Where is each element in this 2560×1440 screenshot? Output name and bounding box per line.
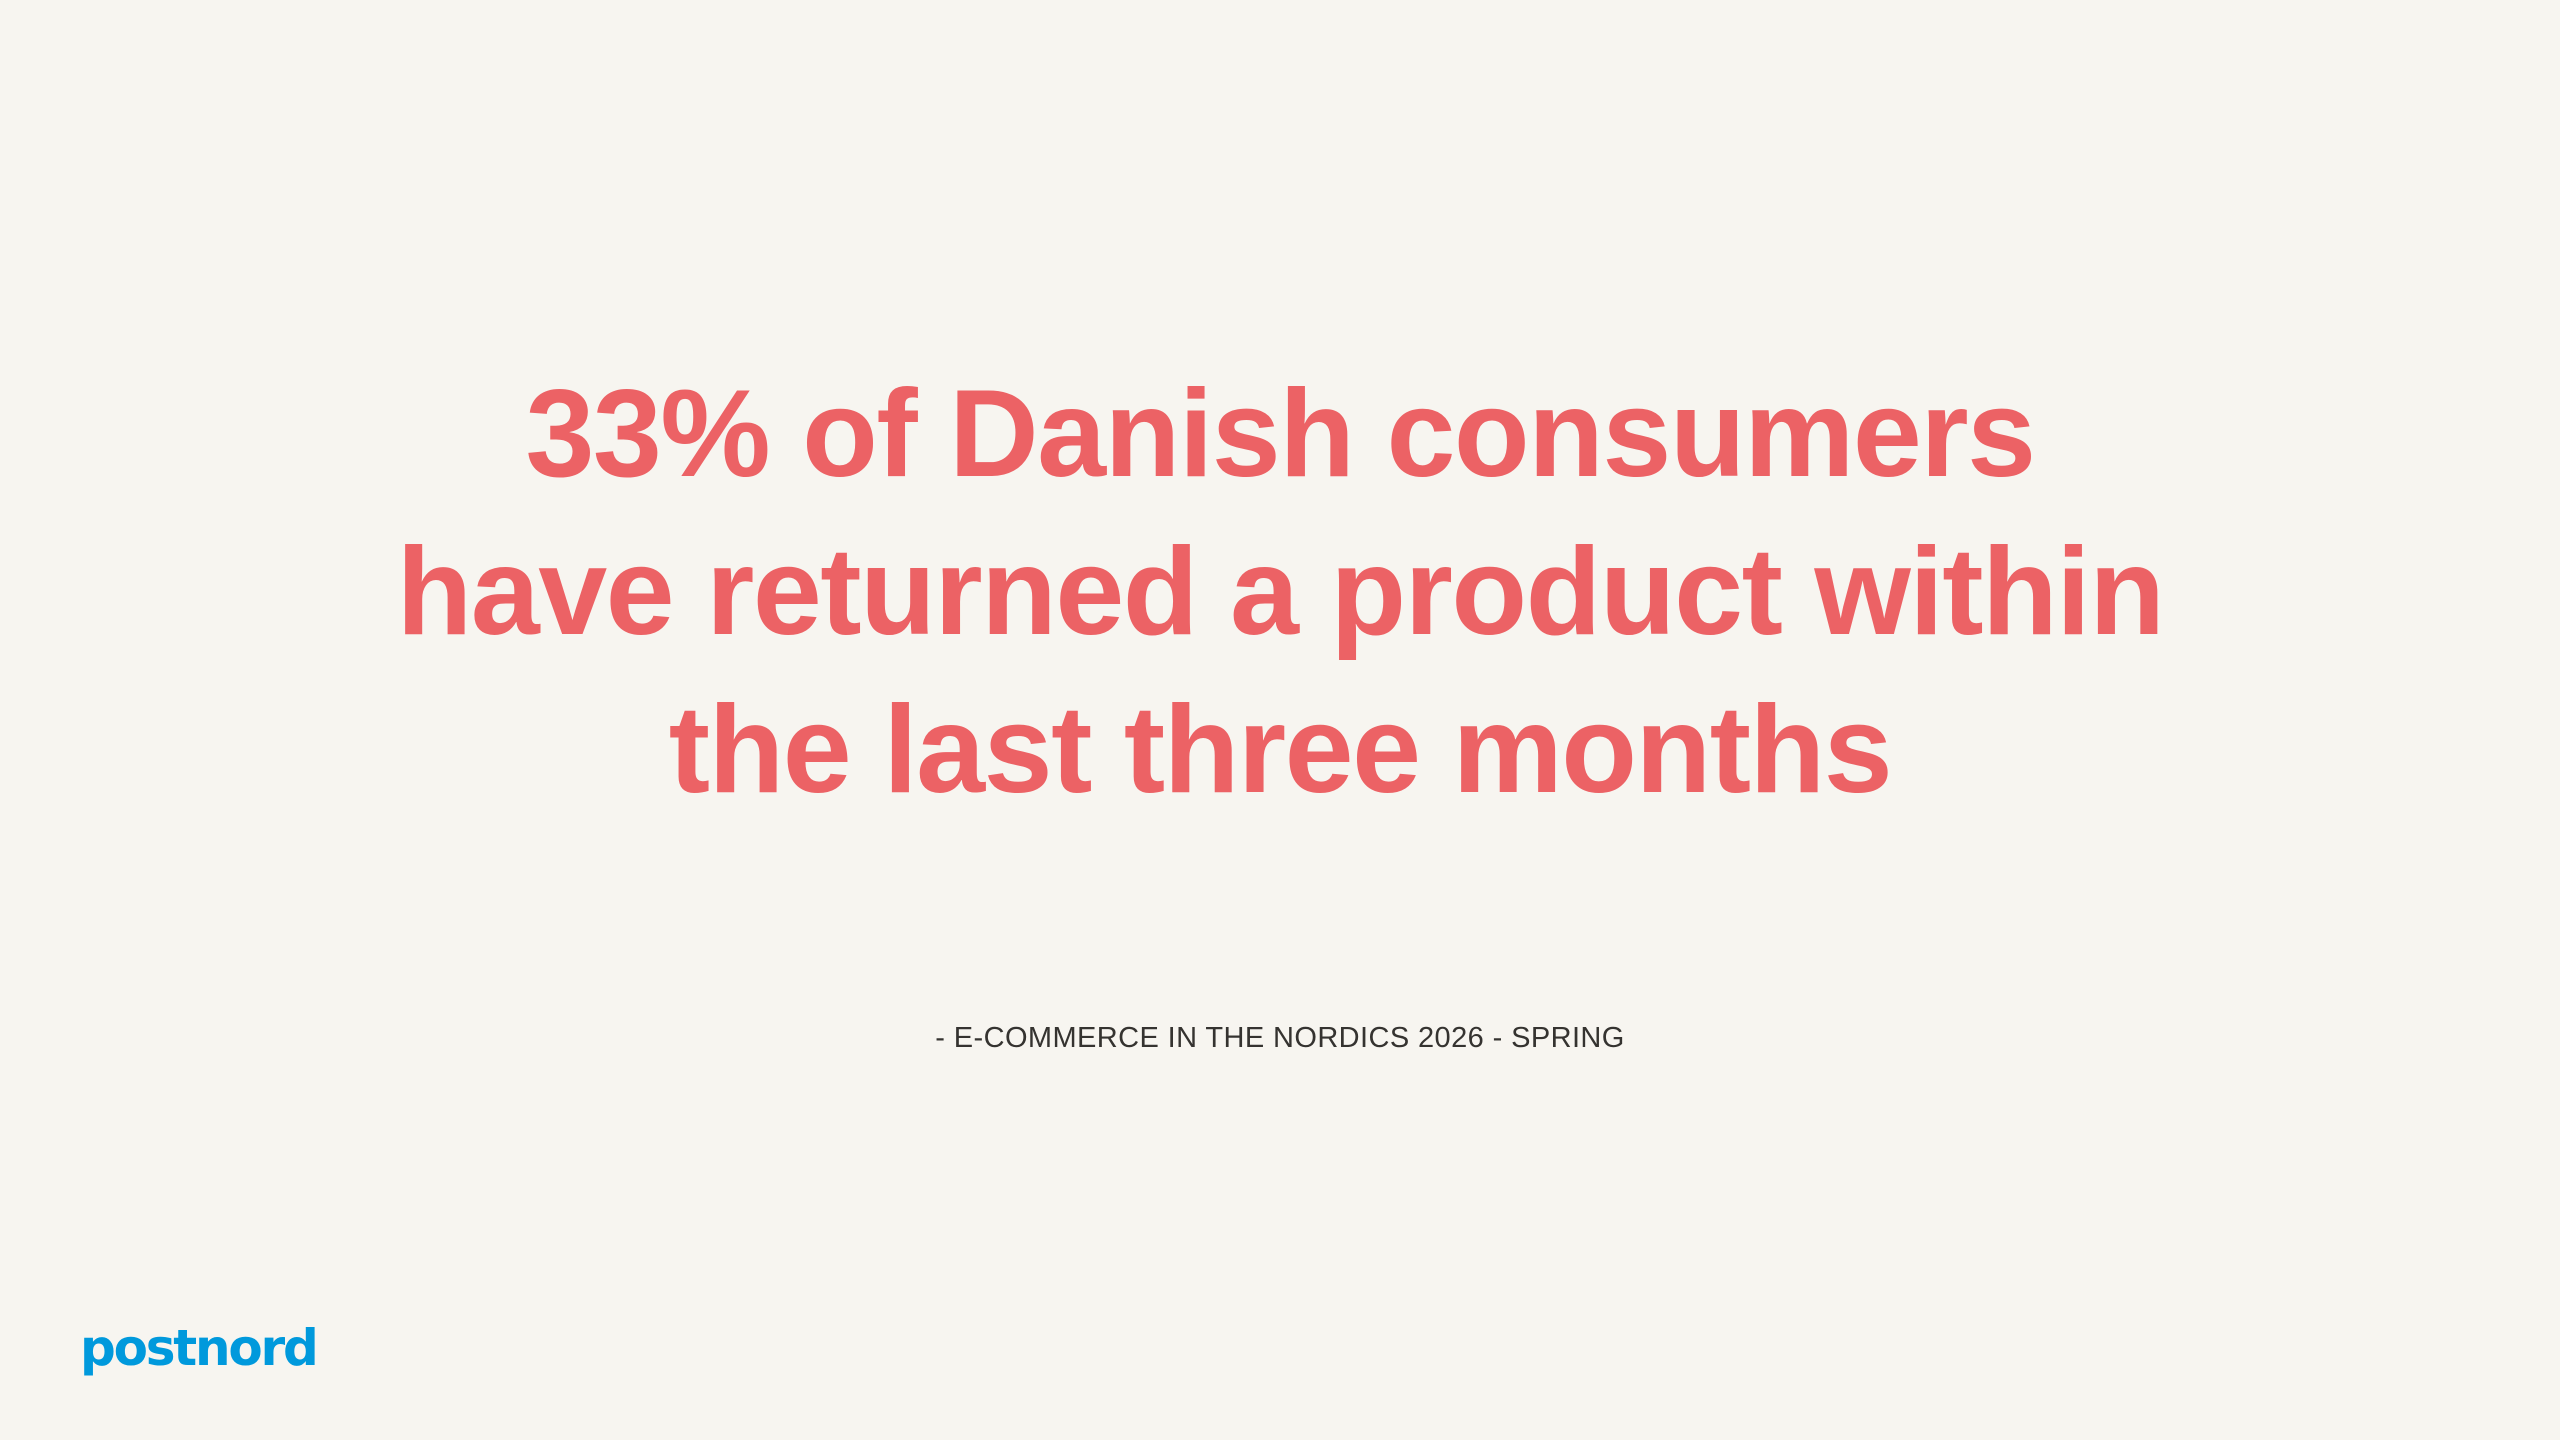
headline: 33% of Danish consumers have returned a … — [0, 355, 2560, 829]
postnord-wordmark: postnord — [80, 1322, 317, 1374]
headline-line-3: the last three months — [0, 671, 2560, 829]
source-text: - E-COMMERCE IN THE NORDICS 2026 - SPRIN… — [935, 1022, 1624, 1055]
headline-line-1: 33% of Danish consumers — [0, 355, 2560, 513]
headline-line-2: have returned a product within — [0, 513, 2560, 671]
source-attribution: - E-COMMERCE IN THE NORDICS 2026 - SPRIN… — [0, 1022, 2560, 1055]
postnord-logo: postnord — [80, 1322, 317, 1374]
slide-canvas: 33% of Danish consumers have returned a … — [0, 0, 2560, 1440]
